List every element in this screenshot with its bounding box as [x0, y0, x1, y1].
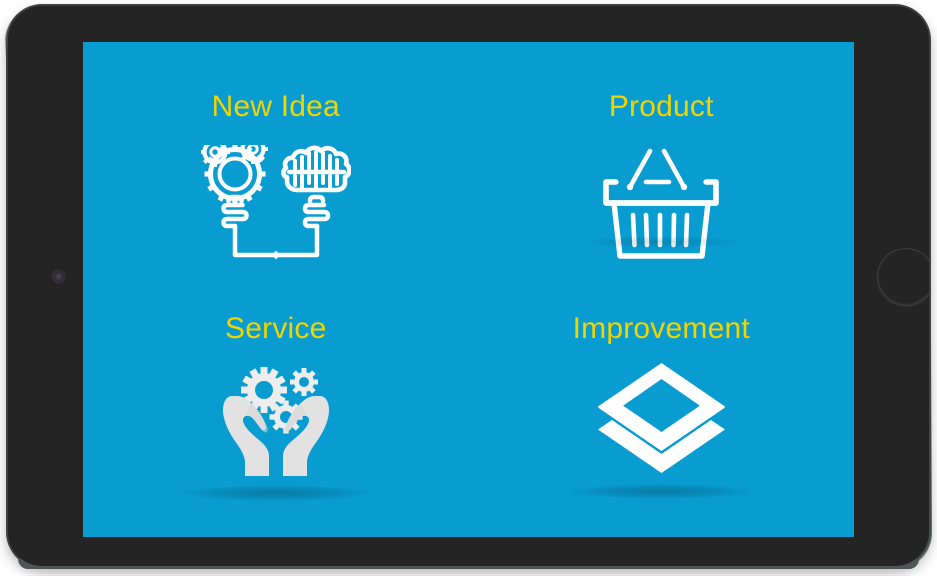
shopping-basket-icon [596, 145, 726, 272]
tile-improvement[interactable]: Improvement [469, 290, 855, 538]
tablet-body: New Idea [8, 6, 929, 566]
tile-product[interactable]: Product [469, 42, 855, 290]
tile-service[interactable]: Service [83, 290, 469, 538]
hands-holding-gears-icon [201, 360, 351, 493]
tile-label-new-idea: New Idea [212, 92, 340, 122]
tablet-device: New Idea [8, 6, 929, 566]
tile-label-improvement: Improvement [573, 314, 750, 344]
tile-new-idea[interactable]: New Idea [83, 42, 469, 290]
tile-grid: New Idea [83, 42, 854, 537]
home-button[interactable] [877, 248, 929, 306]
screenshot-stage: New Idea [0, 0, 937, 576]
gears-and-brain-lightbulb-icon [201, 145, 351, 272]
improvement-icon-shadow [571, 484, 751, 499]
tablet-screen: New Idea [83, 42, 854, 537]
camera-icon [52, 270, 65, 283]
tile-label-product: Product [609, 92, 714, 122]
stacked-layers-icon [594, 360, 729, 485]
tile-label-service: Service [225, 314, 326, 344]
